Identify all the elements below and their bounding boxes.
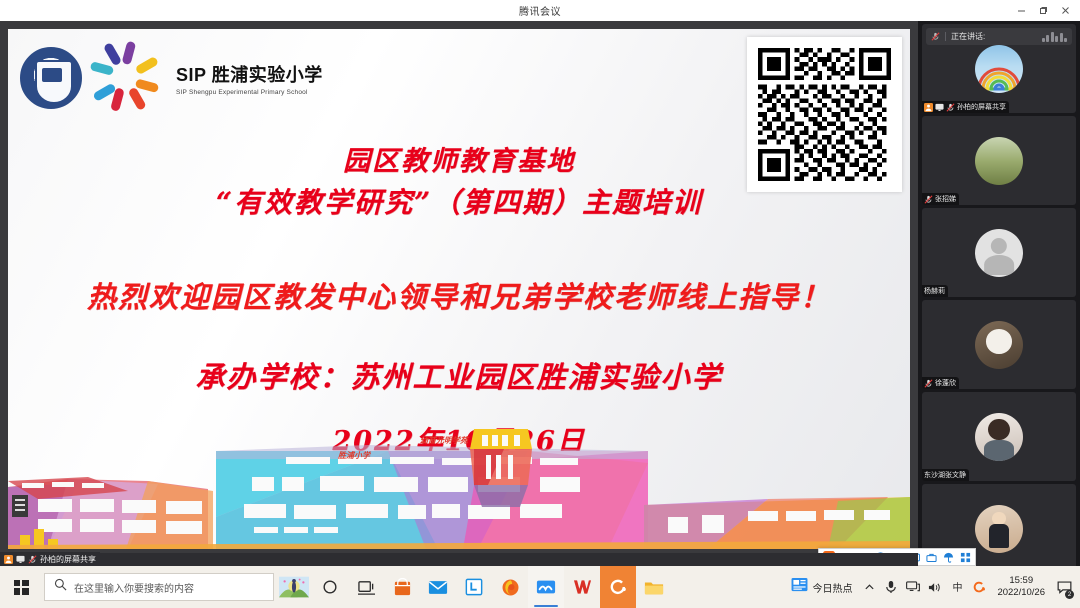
notification-count: 2 <box>1065 590 1074 599</box>
cortana-icon[interactable] <box>276 566 312 608</box>
speaking-indicator-bar: 正在讲话: <box>926 28 1072 45</box>
window-title: 腾讯会议 <box>519 3 561 18</box>
presentation-slide: SIP 胜浦实验小学 SIP Shengpu Experimental Prim… <box>8 29 910 549</box>
volume-icon[interactable] <box>924 566 946 608</box>
screen-share-icon <box>935 103 944 112</box>
participant-tile[interactable]: 东沙湖张文静 <box>922 392 1076 481</box>
sogou-pinyin-icon[interactable] <box>600 566 636 608</box>
search-placeholder: 在这里输入你要搜索的内容 <box>74 580 194 595</box>
ime-tray-icon[interactable]: 中 <box>946 566 968 608</box>
network-icon[interactable] <box>902 566 924 608</box>
mic-muted-icon <box>931 32 940 41</box>
task-view-icon[interactable] <box>312 566 348 608</box>
school-crest-emblem <box>20 47 82 109</box>
taskbar-app-icons <box>276 566 672 608</box>
participant-name: 东沙湖张文静 <box>924 470 966 480</box>
maximize-restore-button[interactable] <box>1032 0 1054 21</box>
presenter-icon <box>924 103 933 112</box>
minimize-button[interactable] <box>1010 0 1032 21</box>
search-input[interactable]: 在这里输入你要搜索的内容 <box>44 573 274 601</box>
news-label: 今日热点 <box>812 580 852 595</box>
sip-starburst-logo <box>96 47 162 109</box>
school-name-block: SIP 胜浦实验小学 SIP Shengpu Experimental Prim… <box>176 61 323 96</box>
svg-text:中: 中 <box>952 581 962 594</box>
speaking-label: 正在讲话: <box>951 31 985 42</box>
start-button[interactable] <box>0 566 42 608</box>
file-explorer-icon[interactable] <box>636 566 672 608</box>
title-bar: 腾讯会议 <box>0 0 1080 21</box>
participant-name: 张招娣 <box>935 194 956 204</box>
slide-title-line-1: 园区教师教育基地 <box>8 139 910 178</box>
participant-name-bar: 杨赫莉 <box>922 285 948 297</box>
clock-date: 2022/10/26 <box>997 587 1045 599</box>
participant-tile[interactable]: 正在讲话: <box>922 24 1076 113</box>
slide-title-line-2: “有效教学研究”（第四期）主题培训 <box>8 181 910 221</box>
participant-name-bar: 孙柏的屏幕共享 <box>922 101 1009 113</box>
microsoft-store-icon[interactable] <box>384 566 420 608</box>
tencent-meeting-icon[interactable] <box>528 566 564 608</box>
task-view-panes-icon[interactable] <box>348 566 384 608</box>
screen-share-status-bar: 孙柏的屏幕共享 <box>0 553 918 566</box>
avatar <box>975 505 1023 553</box>
show-hidden-icons-button[interactable] <box>858 566 880 608</box>
toolbox-icon[interactable] <box>925 551 937 563</box>
apps-grid-icon[interactable] <box>959 551 971 563</box>
avatar <box>975 137 1023 185</box>
school-name-en: SIP Shengpu Experimental Primary School <box>176 89 323 96</box>
clock[interactable]: 15:59 2022/10/26 <box>990 575 1052 599</box>
participant-tile[interactable]: 徐蓬欣 <box>922 300 1076 389</box>
sogou-tray-icon[interactable] <box>968 566 990 608</box>
avatar <box>975 229 1023 277</box>
clock-time: 15:59 <box>1009 575 1033 587</box>
close-button[interactable] <box>1054 0 1076 21</box>
wps-icon[interactable] <box>564 566 600 608</box>
mic-muted-icon <box>28 555 37 564</box>
window-controls <box>1010 0 1076 21</box>
audio-waveform-icon <box>1042 32 1068 42</box>
participant-name: 孙柏的屏幕共享 <box>957 102 1006 112</box>
search-icon <box>54 578 67 596</box>
participant-name: 杨赫莉 <box>924 286 945 296</box>
microphone-icon[interactable] <box>880 566 902 608</box>
lark-icon[interactable] <box>456 566 492 608</box>
windows-logo-icon <box>14 580 29 595</box>
screen-share-icon <box>16 555 25 564</box>
mic-muted-icon <box>924 379 933 388</box>
slide-welcome-line: 热烈欢迎园区教发中心领导和兄弟学校老师线上指导！ <box>8 274 910 316</box>
mail-icon[interactable] <box>420 566 456 608</box>
system-tray: 今日热点 中 15:59 2022/10/26 <box>785 566 1080 608</box>
presenter-icon <box>4 555 13 564</box>
shared-screen-area[interactable]: SIP 胜浦实验小学 SIP Shengpu Experimental Prim… <box>0 21 918 566</box>
participant-tile[interactable]: 杨赫莉 <box>922 208 1076 297</box>
share-owner-name: 孙柏的屏幕共享 <box>40 554 96 565</box>
illustration-label-left: 胜浦小学 <box>338 450 370 461</box>
meeting-body: SIP 胜浦实验小学 SIP Shengpu Experimental Prim… <box>0 21 1080 566</box>
avatar <box>975 321 1023 369</box>
participant-name-bar: 徐蓬欣 <box>922 377 959 389</box>
action-center-button[interactable]: 2 <box>1052 566 1076 608</box>
low-poly-campus-illustration <box>8 429 910 549</box>
participant-sidebar[interactable]: 正在讲话: <box>918 21 1080 566</box>
windows-taskbar: 在这里输入你要搜索的内容 <box>0 566 1080 608</box>
participant-tile[interactable]: 张招娣 <box>922 116 1076 205</box>
mic-muted-icon <box>924 195 933 204</box>
news-and-interests[interactable]: 今日热点 <box>785 577 858 597</box>
school-logo-row: SIP 胜浦实验小学 SIP Shengpu Experimental Prim… <box>20 47 323 109</box>
screen-share-floating-bar[interactable]: 孙柏的屏幕共享 <box>0 552 100 566</box>
illustration-label-right: 幼苗光明学苑 <box>420 435 468 446</box>
avatar <box>975 45 1023 93</box>
school-name-cn: SIP 胜浦实验小学 <box>176 61 323 87</box>
mic-muted-icon <box>946 103 955 112</box>
participant-name-bar: 东沙湖张文静 <box>922 469 969 481</box>
firefox-icon[interactable] <box>492 566 528 608</box>
avatar <box>975 413 1023 461</box>
umbrella-icon[interactable] <box>942 551 954 563</box>
participant-name: 徐蓬欣 <box>935 378 956 388</box>
tencent-meeting-window: 腾讯会议 <box>0 0 1080 608</box>
participant-name-bar: 张招娣 <box>922 193 959 205</box>
news-icon <box>791 577 808 597</box>
slide-host-line: 承办学校：苏州工业园区胜浦实验小学 <box>8 354 910 396</box>
